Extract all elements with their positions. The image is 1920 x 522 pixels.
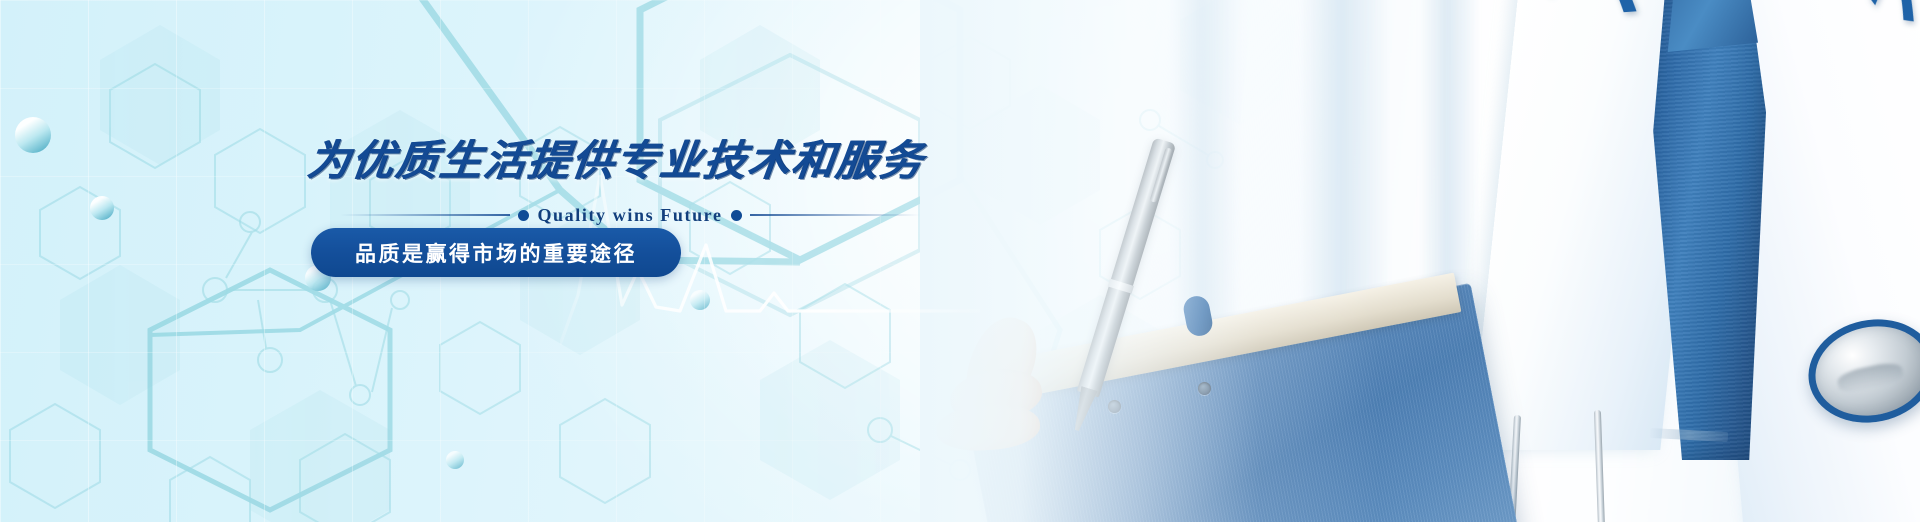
cta-button[interactable]: 品质是赢得市场的重要途径: [311, 228, 681, 277]
tagline-text: Quality wins Future: [537, 205, 722, 226]
tagline-row: Quality wins Future: [340, 203, 920, 227]
cta-button-label: 品质是赢得市场的重要途径: [355, 238, 637, 268]
hero-banner: 为优质生活提供专业技术和服务 Quality wins Future 品质是赢得…: [0, 0, 1920, 522]
tagline-rule-left: [340, 214, 510, 216]
tagline-dot-right: [731, 210, 742, 221]
tagline-rule-right: [750, 214, 920, 216]
page-title: 为优质生活提供专业技术和服务: [304, 127, 928, 188]
tagline-dot-left: [518, 210, 529, 221]
banner-content: 为优质生活提供专业技术和服务 Quality wins Future 品质是赢得…: [0, 0, 1920, 522]
